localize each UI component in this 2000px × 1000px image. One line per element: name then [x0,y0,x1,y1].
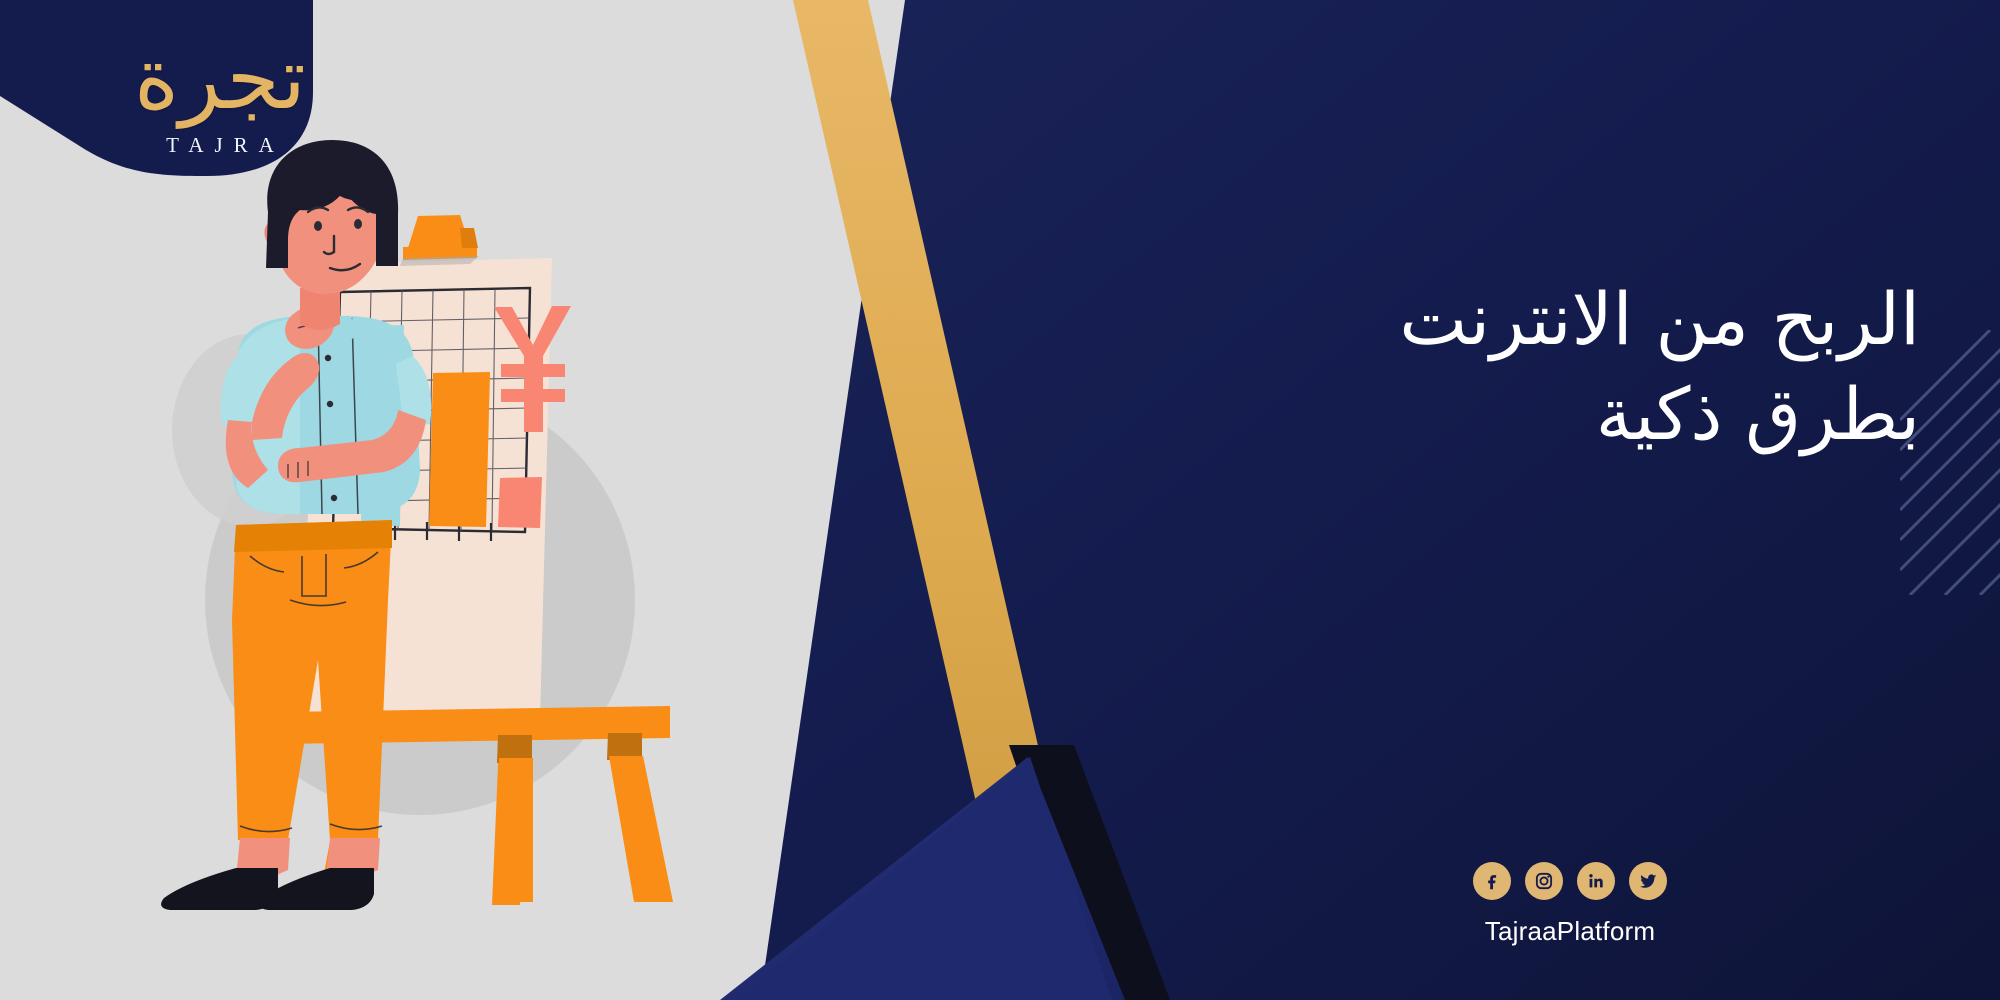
easel-leg-right [609,756,673,902]
facebook-icon[interactable] [1473,862,1511,900]
headline-line-1: الربح من الانترنت [1200,272,1920,367]
chart-bar-2 [429,372,490,527]
easel-leg-mid [499,758,533,902]
headline-line-2: بطرق ذكية [1200,367,1920,462]
headline-block: الربح من الانترنت بطرق ذكية [1200,272,1920,462]
logo-wordmark: TAJRA [155,133,285,158]
social-block: TajraaPlatform [1430,862,1710,947]
social-handle: TajraaPlatform [1430,916,1710,947]
woman-trousers [232,520,392,840]
logo-arabic-mark: تجرة [134,39,306,121]
linkedin-icon[interactable] [1577,862,1615,900]
instagram-icon[interactable] [1525,862,1563,900]
banner-canvas: تجرة TAJRA الربح من الانترنت بطرق ذكية [0,0,2000,1000]
chart-bar-3 [498,477,542,528]
social-icon-row [1430,862,1710,900]
twitter-icon[interactable] [1629,862,1667,900]
brand-logo[interactable]: تجرة TAJRA [0,0,400,215]
